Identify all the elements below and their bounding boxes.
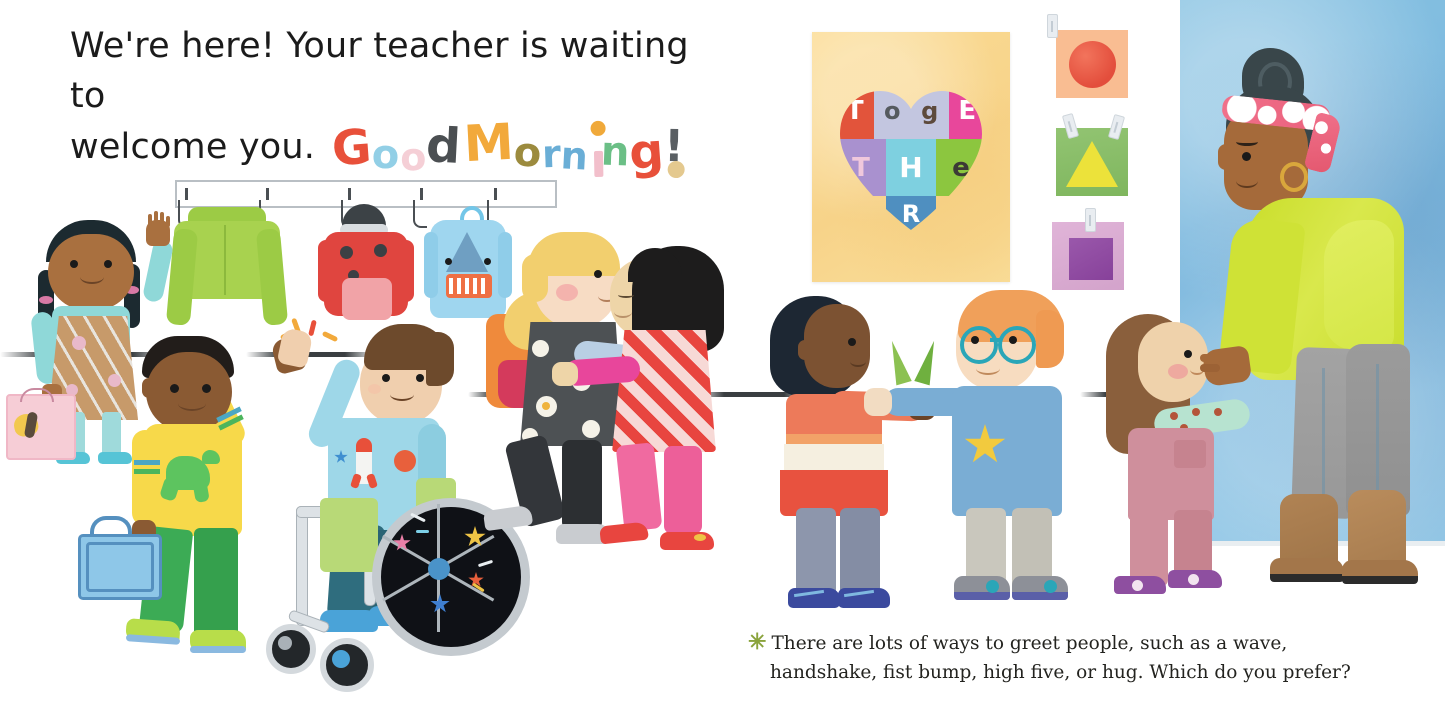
clothespin-icon <box>1047 14 1058 38</box>
fist <box>864 388 892 416</box>
dark-haired-girl-hugging <box>598 246 734 554</box>
greeting-letter-8: n <box>560 139 589 175</box>
daisy-icon <box>532 340 549 357</box>
heart-cell-o: o <box>874 82 912 139</box>
heart-letter: E <box>958 96 976 126</box>
greeting-letter-10: n <box>600 134 630 171</box>
greeting-letter-6: o <box>513 134 543 172</box>
red-circle-shape <box>1069 41 1116 88</box>
boy-orange-shirt-fist-bump <box>770 294 930 614</box>
ladybug-backpack <box>318 204 414 332</box>
heart-graphic: TogETHeR <box>836 82 986 232</box>
heart-cell-H: H <box>886 139 936 196</box>
shoe <box>483 505 533 531</box>
heart-cell-R: R <box>886 196 936 232</box>
heart-cell-g: g <box>911 82 949 139</box>
shoe <box>599 522 649 545</box>
caption-line-1: There are lots of ways to greet people, … <box>771 633 1287 654</box>
headline-line-1: We're here! Your teacher is waiting to <box>70 26 689 116</box>
exclamation-dot <box>668 161 685 178</box>
clothespin-icon <box>1085 208 1096 232</box>
greeting-letter-7: r <box>541 137 561 172</box>
heart-letter: R <box>902 200 920 228</box>
heart-shape: TogETHeR <box>836 82 986 232</box>
hook-stem <box>420 188 423 200</box>
boy-in-wheelchair <box>268 318 508 686</box>
hoop-earring-icon <box>1280 162 1308 192</box>
blush <box>1168 364 1188 379</box>
square-card <box>1052 222 1124 290</box>
greeting-letter-5: M <box>463 120 515 168</box>
diamond-dress <box>612 330 716 452</box>
wheel-hub <box>428 558 450 580</box>
seat-back <box>320 498 378 572</box>
greeting-letter-12: ! <box>664 127 685 167</box>
heart-letter: o <box>884 97 901 125</box>
caption-line-2: handshake, fist bump, high five, or hug.… <box>770 659 1438 687</box>
face <box>1138 322 1208 402</box>
glasses-bridge <box>990 338 1000 342</box>
heart-cell-T: T <box>836 139 886 196</box>
hook-stem <box>185 188 188 200</box>
greeting-letter-11: g <box>628 130 665 175</box>
caster-wheel <box>266 624 316 674</box>
book-spread: We're here! Your teacher is waiting to w… <box>0 0 1445 723</box>
heart-letter: T <box>852 153 870 183</box>
asterisk-icon: ✳ <box>748 629 766 655</box>
heart-cell-T: T <box>836 82 874 139</box>
heart-letter: e <box>952 153 970 183</box>
hook-stem <box>494 188 497 200</box>
shoe <box>98 452 132 464</box>
together-heart-poster: TogETHeR <box>812 32 1010 282</box>
greeting-letter-1: o <box>371 137 400 174</box>
purple-square-shape <box>1069 238 1113 280</box>
hook-stem <box>348 188 351 200</box>
heart-cell-E: E <box>949 82 987 139</box>
heart-letter: g <box>921 97 938 125</box>
greeting-letter-0: G <box>331 126 374 172</box>
greeting-letter-2: o <box>399 140 426 175</box>
heart-cell-e: e <box>936 139 986 196</box>
headline-line-2: welcome you. <box>70 127 315 167</box>
good-morning-text: Good Morning! <box>332 125 684 179</box>
heart-letter: H <box>899 151 922 184</box>
blue-shirt <box>952 386 1062 516</box>
boy-glasses-fist-bump <box>940 290 1100 606</box>
caption-note: ✳There are lots of ways to greet people,… <box>748 626 1438 688</box>
yellow-triangle-shape <box>1066 141 1118 187</box>
teacher <box>1218 48 1444 618</box>
heart-letter: T <box>846 96 864 126</box>
glasses-lens <box>960 326 998 364</box>
greeting-letter-9: i <box>588 143 601 176</box>
shoe <box>660 532 714 550</box>
blush <box>556 284 578 301</box>
page-title: We're here! Your teacher is waiting to w… <box>70 22 690 179</box>
circle-card <box>1056 30 1128 98</box>
high-five-hand <box>277 327 314 368</box>
shark-fin-icon <box>446 232 488 272</box>
glasses-lens <box>998 326 1036 364</box>
hook-stem <box>266 188 269 200</box>
face <box>804 304 870 388</box>
greeting-letter-3: d <box>425 125 462 170</box>
